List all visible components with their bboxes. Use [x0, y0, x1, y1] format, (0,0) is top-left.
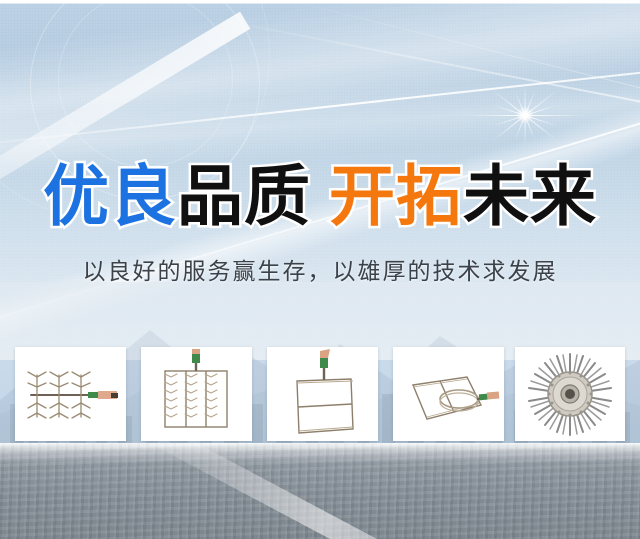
hero-banner: 优良品质开拓未来 以良好的服务赢生存，以雄厚的技术求发展 — [0, 0, 640, 539]
page-title: 优良品质开拓未来 — [0, 160, 640, 234]
page-subtitle: 以良好的服务赢生存，以雄厚的技术求发展 — [0, 256, 640, 288]
product-card-list — [0, 347, 640, 441]
product-card-3[interactable] — [267, 347, 378, 441]
plating-rack-comb-frame-icon — [141, 347, 252, 441]
plating-rack-comb-triple-icon — [15, 347, 126, 441]
ground-highlight — [0, 443, 640, 463]
headline-part-weilai: 未来 — [463, 158, 597, 235]
product-card-4[interactable] — [393, 347, 504, 441]
plating-rack-ring-frame-icon — [393, 347, 504, 441]
product-card-5[interactable] — [515, 347, 625, 441]
product-card-2[interactable] — [141, 347, 252, 441]
plating-rack-double-frame-icon — [267, 347, 378, 441]
concrete-ground — [0, 443, 640, 539]
headline-part-youliang: 优良 — [43, 158, 177, 235]
plating-rack-radial-star-icon — [515, 347, 625, 441]
headline-part-kaituo: 开拓 — [329, 158, 463, 235]
product-card-1[interactable] — [15, 347, 126, 441]
headline-part-pinzhi: 品质 — [177, 158, 311, 235]
